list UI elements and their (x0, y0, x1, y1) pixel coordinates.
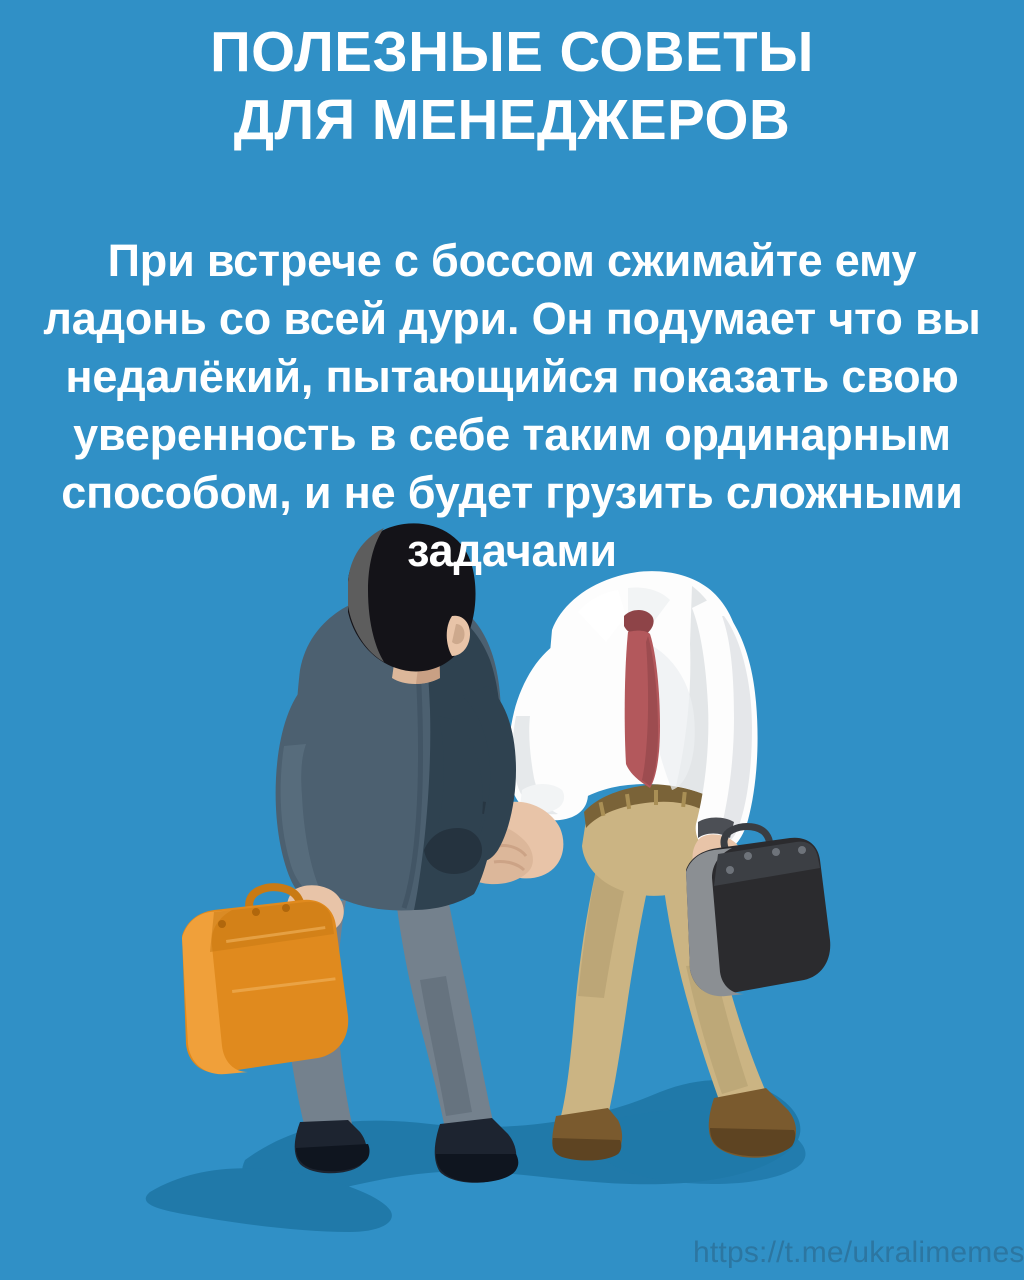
handshake-illustration (0, 520, 1024, 1280)
black-briefcase (686, 827, 830, 997)
orange-briefcase (182, 887, 348, 1074)
page-title: ПОЛЕЗНЫЕ СОВЕТЫ ДЛЯ МЕНЕДЖЕРОВ (5, 18, 1019, 154)
employee-figure (276, 523, 519, 1182)
body-text: При встрече с боссом сжимайте ему ладонь… (36, 232, 988, 580)
watermark-url: https://t.me/ukralimemes (693, 1236, 1024, 1270)
boss-figure (452, 571, 831, 1160)
meme-canvas: ПОЛЕЗНЫЕ СОВЕТЫ ДЛЯ МЕНЕДЖЕРОВ При встре… (0, 0, 1024, 1280)
